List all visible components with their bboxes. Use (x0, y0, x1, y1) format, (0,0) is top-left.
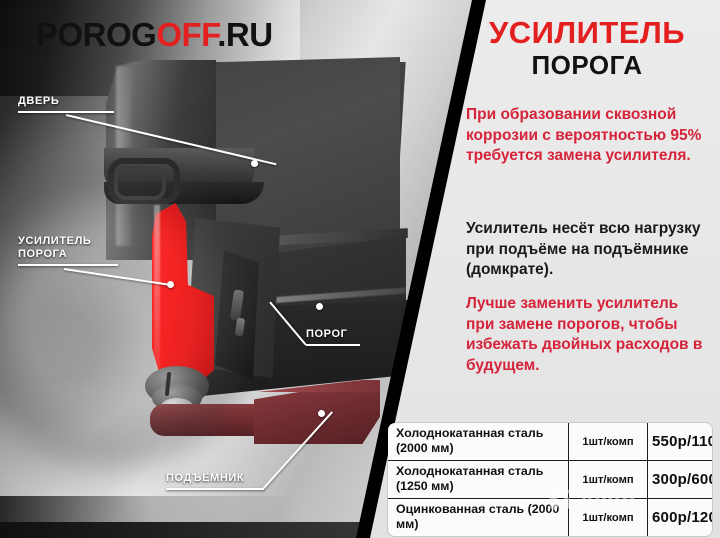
logo-text-part2: OFF (156, 16, 217, 53)
table-cell-qty: 1шт/комп (569, 499, 648, 536)
callout-lift-underline (166, 488, 264, 490)
table-cell-qty: 1шт/комп (569, 423, 648, 460)
callout-reinforcement-dot (167, 281, 174, 288)
callout-door-dot (251, 160, 258, 167)
logo-text-part3: .RU (217, 16, 272, 53)
callout-door-underline (18, 111, 114, 113)
callout-door-label: ДВЕРЬ (18, 95, 114, 108)
callout-sill-underline (306, 344, 360, 346)
callout-sill-label: ПОРОГ (306, 328, 360, 341)
callout-door: ДВЕРЬ (18, 95, 114, 113)
table-cell-name: Холоднокатанная сталь (1250 мм) (388, 461, 569, 498)
table-cell-price: 550р/1100р (648, 423, 712, 460)
table-cell-price: 300р/600р (648, 461, 712, 498)
callout-reinforcement: УСИЛИТЕЛЬ ПОРОГА (18, 235, 118, 266)
callout-sill-dot (316, 303, 323, 310)
site-logo[interactable]: POROGOFF.RU (36, 18, 273, 51)
table-cell-qty: 1шт/комп (569, 461, 648, 498)
callout-sill: ПОРОГ (306, 328, 360, 346)
table-cell-name: Оцинкованная сталь (2000 мм) (388, 499, 569, 536)
paragraph-advice: Лучше заменить усилитель при замене поро… (466, 294, 710, 376)
callout-reinforcement-underline (18, 264, 118, 266)
table-row: Холоднокатанная сталь (2000 мм) 1шт/комп… (388, 423, 712, 461)
page-title-line1: УСИЛИТЕЛЬ (462, 16, 712, 50)
info-panel-content: УСИЛИТЕЛЬ ПОРОГА При образовании сквозно… (0, 0, 720, 538)
callout-lift-label: ПОДЪЁМНИК (166, 472, 264, 485)
table-cell-price: 600р/1200р (648, 499, 712, 536)
callout-lift: ПОДЪЁМНИК (166, 472, 264, 490)
table-row: Оцинкованная сталь (2000 мм) 1шт/комп 60… (388, 499, 712, 536)
callout-lift-dot (318, 410, 325, 417)
page-title-line2: ПОРОГА (462, 50, 712, 80)
advert-image: POROGOFF.RU ДВЕРЬ УСИЛИТЕЛЬ ПОРОГА ПОРОГ… (0, 0, 720, 538)
callout-reinforcement-label: УСИЛИТЕЛЬ ПОРОГА (18, 235, 118, 261)
paragraph-load: Усилитель несёт всю нагрузку при подъёме… (466, 219, 710, 281)
logo-text-part1: POROG (36, 16, 156, 53)
paragraph-corrosion: При образовании сквозной коррозии с веро… (466, 105, 710, 167)
table-row: Холоднокатанная сталь (1250 мм) 1шт/комп… (388, 461, 712, 499)
page-title: УСИЛИТЕЛЬ ПОРОГА (462, 16, 712, 80)
table-cell-name: Холоднокатанная сталь (2000 мм) (388, 423, 569, 460)
price-table: Холоднокатанная сталь (2000 мм) 1шт/комп… (388, 423, 712, 536)
